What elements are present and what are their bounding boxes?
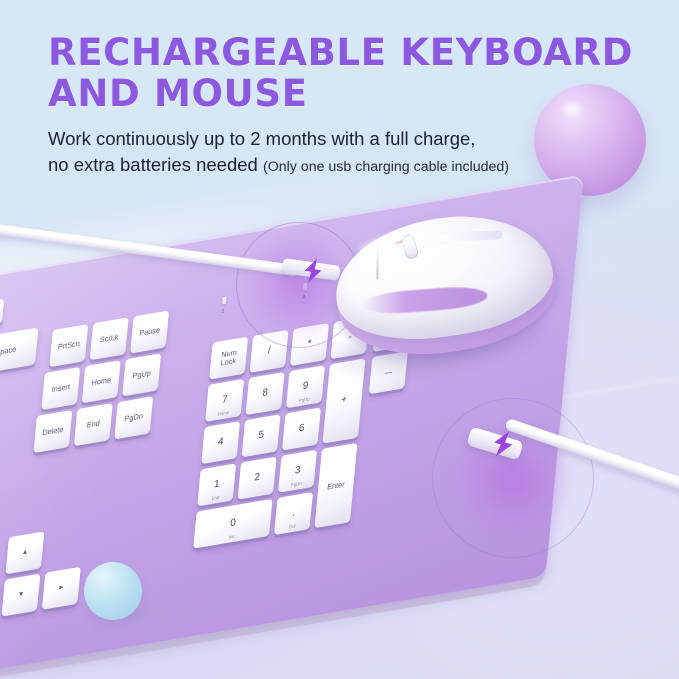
- key-numpad-dot[interactable]: .Del: [274, 492, 313, 535]
- key-numpad-3[interactable]: 3PgDn: [278, 450, 317, 493]
- key-label: PgUp: [132, 369, 151, 380]
- subtitle-parenthetical: (Only one usb charging cable included): [263, 159, 509, 175]
- key-numpad-2[interactable]: 2: [238, 457, 277, 500]
- key-pgdn[interactable]: PgDn: [114, 396, 153, 439]
- headline-line-1: RECHARGEABLE KEYBOARD: [48, 32, 648, 73]
- key-label: 1: [213, 479, 220, 491]
- key-prtscn[interactable]: PrtScn: [49, 324, 88, 367]
- key-secondary-label: Ins: [228, 535, 234, 541]
- key-numpad-4[interactable]: 4: [201, 421, 240, 464]
- key-label: 5: [258, 430, 265, 442]
- subtitle-line-2-wrap: no extra batteries needed (Only one usb …: [48, 152, 658, 178]
- key-label: 7: [221, 395, 228, 407]
- key-secondary-label: PgDn: [291, 482, 302, 489]
- key-numpad-5[interactable]: 5: [242, 414, 281, 457]
- key-label: Home: [91, 376, 111, 387]
- key-numpad-8[interactable]: 8: [246, 372, 285, 415]
- key-label: Num Lock: [220, 349, 237, 368]
- key-secondary-label: PgUp: [299, 398, 310, 405]
- key-label: 2: [254, 472, 261, 484]
- key-label: Backspace: [0, 345, 16, 359]
- subtitle-line-1: Work continuously up to 2 months with a …: [48, 128, 475, 149]
- subtitle-line-2: no extra batteries needed: [48, 154, 263, 175]
- key-label: ▼: [17, 591, 24, 599]
- num-lock-led: 1: [221, 308, 225, 315]
- key-label: ScrLk: [99, 333, 118, 344]
- key-label: 6: [298, 423, 305, 435]
- key-label: Enter: [327, 480, 345, 491]
- blue-sphere: [84, 562, 142, 620]
- key-arrow-down[interactable]: ▼: [1, 574, 40, 617]
- key-pgup[interactable]: PgUp: [122, 353, 161, 396]
- key-label: PgDn: [124, 412, 143, 423]
- key-label: 4: [217, 437, 224, 449]
- mouse-usb-c-port: [440, 230, 502, 242]
- key-label: /: [267, 346, 271, 357]
- key-label: Insert: [51, 383, 70, 394]
- key-label: Pause: [139, 326, 160, 338]
- product-hero-image: RECHARGEABLE KEYBOARD AND MOUSE Work con…: [0, 0, 679, 679]
- key-label: +: [341, 395, 348, 407]
- key-delete[interactable]: Delete: [33, 410, 72, 453]
- key-secondary-label: Home: [217, 411, 229, 418]
- key-label: Delete: [42, 426, 64, 438]
- key-label: ►: [58, 584, 65, 592]
- key-label: End: [86, 420, 100, 430]
- page-title: RECHARGEABLE KEYBOARD AND MOUSE: [48, 32, 648, 115]
- subtitle: Work continuously up to 2 months with a …: [48, 126, 658, 179]
- key-label: 3: [294, 465, 301, 477]
- key-home[interactable]: Home: [82, 360, 121, 403]
- key-scrlk[interactable]: ScrLk: [90, 317, 129, 360]
- key-secondary-label: End: [211, 496, 219, 502]
- key-label: 0: [230, 518, 237, 530]
- key-arrow-right[interactable]: ►: [42, 567, 81, 610]
- key-arrow-up[interactable]: ▲: [5, 531, 44, 574]
- key-secondary-label: Del: [289, 525, 296, 531]
- lightning-bolt-icon-mouse: [300, 257, 325, 286]
- key-end[interactable]: End: [74, 403, 113, 446]
- key-insert[interactable]: Insert: [41, 367, 80, 410]
- key-numpad-7[interactable]: 7Home: [205, 379, 244, 422]
- key-label: 9: [302, 381, 309, 393]
- key-numpad-1[interactable]: 1End: [197, 463, 236, 506]
- key-label: 8: [262, 388, 269, 400]
- key-numpad-9[interactable]: 9PgUp: [286, 365, 325, 408]
- key-label: ▲: [21, 549, 28, 557]
- key-label: PrtScn: [57, 340, 80, 352]
- key-numpad-6[interactable]: 6: [282, 407, 321, 450]
- key-numlock[interactable]: Num Lock: [209, 337, 248, 380]
- key-pause[interactable]: Pause: [130, 310, 169, 353]
- headline-line-2: AND MOUSE: [48, 73, 648, 114]
- key-label: .: [292, 508, 296, 519]
